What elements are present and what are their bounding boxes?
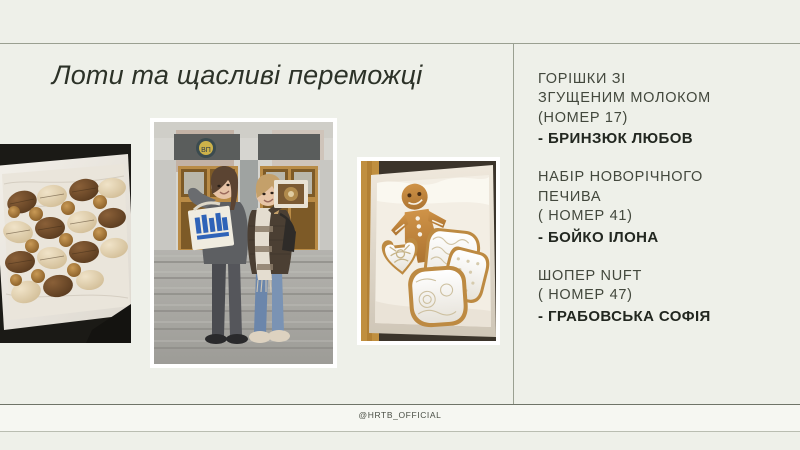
lot-winner-name: - БОЙКО ІЛОНА — [538, 228, 790, 248]
svg-text:ВП: ВП — [201, 147, 211, 154]
photo-winners: ВП — [150, 118, 337, 368]
lot-description-line: (НОМЕР 17) — [538, 109, 790, 128]
photo-cookies-nuts-image — [0, 144, 131, 343]
lot-description-line: ( НОМЕР 47) — [538, 286, 790, 305]
lot-description-line: ПЕЧИВА — [538, 188, 790, 207]
lots-list: ГОРІШКИ ЗІ ЗГУЩЕНИМ МОЛОКОМ (НОМЕР 17) -… — [538, 70, 790, 346]
lot-description: ГОРІШКИ ЗІ ЗГУЩЕНИМ МОЛОКОМ (НОМЕР 17) — [538, 70, 790, 128]
lot-description-line: ШОПЕР NUFT — [538, 267, 790, 286]
lot-description: ШОПЕР NUFT ( НОМЕР 47) — [538, 267, 790, 306]
column-divider-line — [513, 44, 514, 404]
photo-gingerbread-image — [361, 161, 496, 341]
lot-item-17: ГОРІШКИ ЗІ ЗГУЩЕНИМ МОЛОКОМ (НОМЕР 17) -… — [538, 70, 790, 149]
presentation-slide: Лоти та щасливі переможці — [0, 0, 800, 450]
lot-winner-name: - ГРАБОВСЬКА СОФІЯ — [538, 307, 790, 327]
lot-winner-name: - БРИНЗЮК ЛЮБОВ — [538, 129, 790, 149]
header-divider-line — [0, 43, 800, 44]
photo-cookies-nuts — [0, 144, 131, 343]
footer-bottom-divider — [0, 431, 800, 432]
page-title: Лоти та щасливі переможці — [52, 60, 422, 91]
lot-description-line: ЗГУЩЕНИМ МОЛОКОМ — [538, 89, 790, 108]
lot-description-line: ( НОМЕР 41) — [538, 207, 790, 226]
lot-description: НАБІР НОВОРІЧНОГО ПЕЧИВА ( НОМЕР 41) — [538, 168, 790, 226]
lot-description-line: ГОРІШКИ ЗІ — [538, 70, 790, 89]
lot-item-47: ШОПЕР NUFT ( НОМЕР 47) - ГРАБОВСЬКА СОФІ… — [538, 267, 790, 327]
photo-winners-image: ВП — [154, 122, 333, 364]
lot-description-line: НАБІР НОВОРІЧНОГО — [538, 168, 790, 187]
lot-item-41: НАБІР НОВОРІЧНОГО ПЕЧИВА ( НОМЕР 41) - Б… — [538, 168, 790, 247]
footer-top-divider — [0, 404, 800, 405]
footer-handle: @HRTB_OFFICIAL — [0, 410, 800, 420]
photo-gingerbread — [357, 157, 500, 345]
